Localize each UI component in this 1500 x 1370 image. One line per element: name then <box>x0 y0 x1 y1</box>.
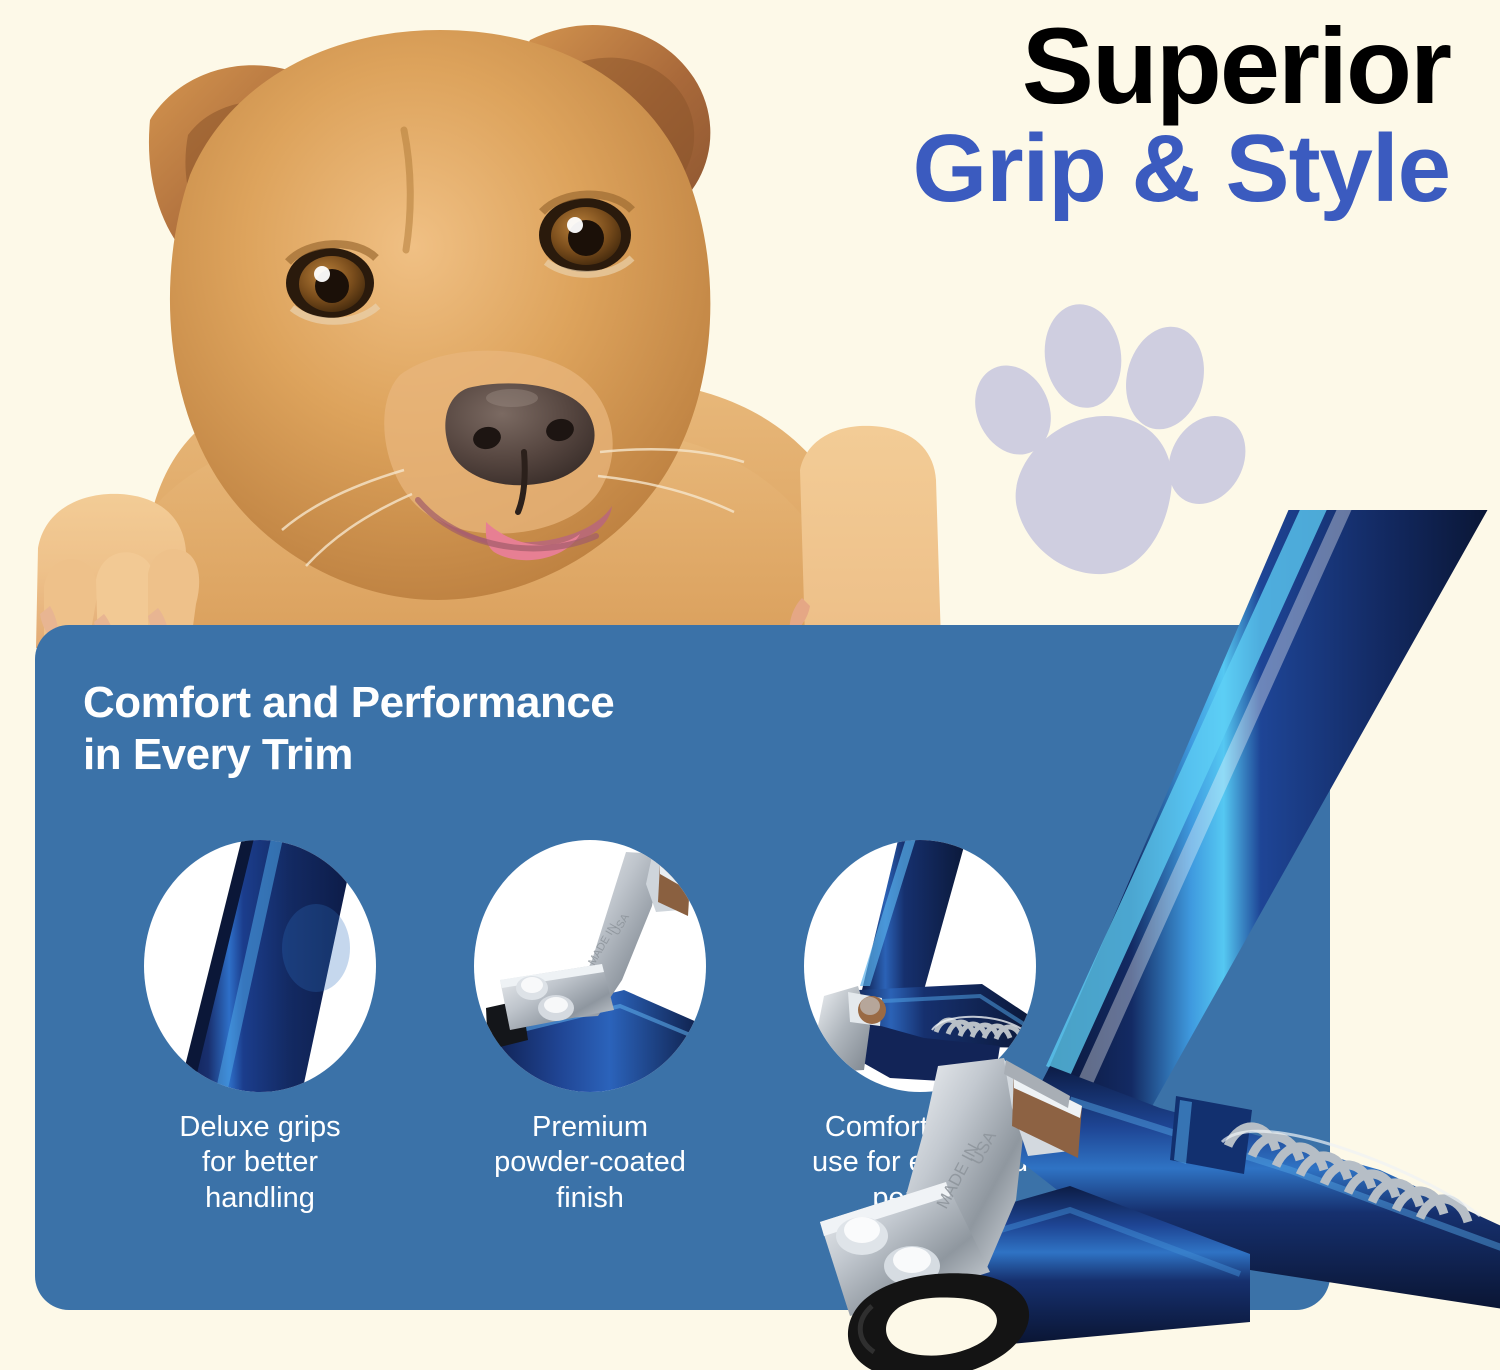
feature-item: MADE IN USA Premium powder-coated finish <box>425 840 755 1216</box>
paw-print-icon <box>955 300 1255 585</box>
headline-line2: Grip & Style <box>750 119 1450 220</box>
feature-item: Deluxe grips for better handling <box>95 840 425 1216</box>
feature-caption: Deluxe grips for better handling <box>179 1110 340 1216</box>
card-title-line1: Comfort and Performance <box>83 677 614 729</box>
feature-list: Deluxe grips for better handling <box>95 840 1085 1216</box>
caption-line: handling <box>179 1181 340 1216</box>
headline: Superior Grip & Style <box>750 8 1450 219</box>
caption-line: powder-coated <box>494 1145 686 1180</box>
feature-item: Comfortable to use for extended periods <box>755 840 1085 1216</box>
caption-line: Deluxe grips <box>179 1110 340 1145</box>
headline-line1: Superior <box>750 8 1450 125</box>
caption-line: finish <box>494 1181 686 1216</box>
feature-card: Comfort and Performance in Every Trim <box>35 625 1330 1310</box>
card-title-line2: in Every Trim <box>83 729 614 781</box>
blue-handle-closeup-image <box>144 840 376 1092</box>
caption-line: periods <box>812 1181 1028 1216</box>
spring-mechanism-closeup-image <box>804 840 1036 1092</box>
poster-canvas: Superior Grip & Style Comfort and Perfor… <box>0 0 1500 1370</box>
caption-line: Comfortable to <box>812 1110 1028 1145</box>
card-title: Comfort and Performance in Every Trim <box>83 677 614 781</box>
caption-line: for better <box>179 1145 340 1180</box>
caption-line: use for extended <box>812 1145 1028 1180</box>
clipper-head-closeup-image: MADE IN USA <box>474 840 706 1092</box>
feature-caption: Premium powder-coated finish <box>494 1110 686 1216</box>
feature-caption: Comfortable to use for extended periods <box>812 1110 1028 1216</box>
caption-line: Premium <box>494 1110 686 1145</box>
